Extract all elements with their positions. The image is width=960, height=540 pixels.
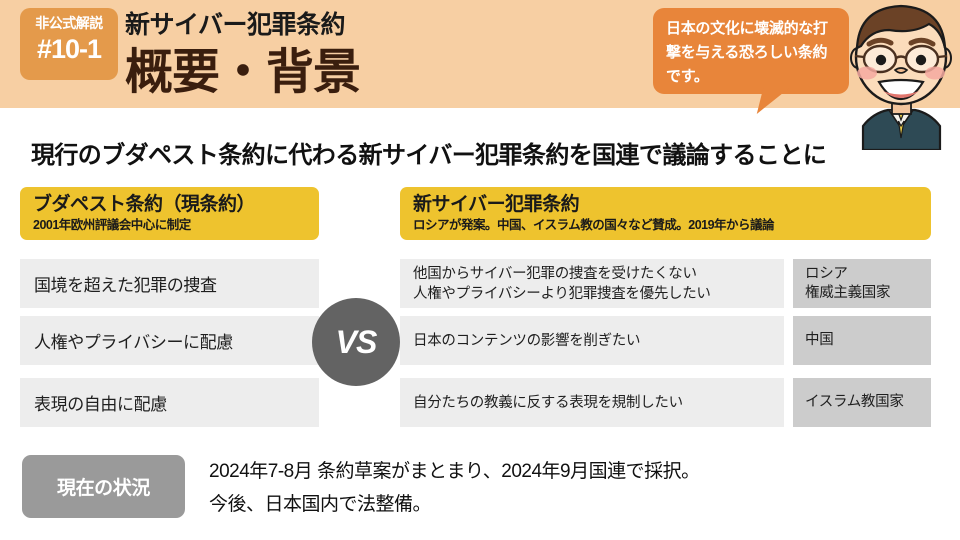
page-title: 概要・背景 xyxy=(125,32,360,102)
episode-badge-label: 非公式解説 xyxy=(20,15,118,32)
vs-badge: VS xyxy=(312,298,400,386)
speech-bubble-tail xyxy=(757,88,789,114)
country-tag: ロシア 権威主義国家 xyxy=(793,259,931,308)
row-text-line-1: 日本のコンテンツの影響を削ぎたい xyxy=(413,331,784,351)
column-header-right-title: 新サイバー犯罪条約 xyxy=(413,194,921,216)
column-header-new-cybercrime-treaty: 新サイバー犯罪条約 ロシアが発案。中国、イスラム教の国々など賛成。2019年から… xyxy=(400,187,931,240)
episode-badge: 非公式解説 #10-1 xyxy=(20,8,118,80)
slide-canvas: 非公式解説 #10-1 新サイバー犯罪条約 概要・背景 日本の文化に壊滅的な打撃… xyxy=(0,0,960,540)
status-text: 2024年7-8月 条約草案がまとまり、2024年9月国連で採択。 今後、日本国… xyxy=(209,455,949,521)
table-row: 他国からサイバー犯罪の捜査を受けたくない 人権やプライバシーより犯罪捜査を優先し… xyxy=(400,259,784,308)
column-header-right-subtitle: ロシアが発案。中国、イスラム教の国々など賛成。2019年から議論 xyxy=(413,217,921,233)
country-tag: 中国 xyxy=(793,316,931,365)
row-text-line-2: 人権やプライバシーより犯罪捜査を優先したい xyxy=(413,284,784,304)
column-header-left-title: ブダペスト条約（現条約） xyxy=(33,194,309,216)
presenter-character-illustration xyxy=(843,0,960,150)
status-line-2: 今後、日本国内で法整備。 xyxy=(209,488,949,521)
country-tag-line-1: イスラム教国家 xyxy=(805,393,931,412)
row-text-line-1: 他国からサイバー犯罪の捜査を受けたくない xyxy=(413,264,784,284)
country-tag-line-1: 中国 xyxy=(805,331,931,350)
table-row: 表現の自由に配慮 xyxy=(20,378,319,427)
table-row: 人権やプライバシーに配慮 xyxy=(20,316,319,365)
main-headline: 現行のブダペスト条約に代わる新サイバー犯罪条約を国連で議論することに xyxy=(31,135,826,170)
speech-bubble: 日本の文化に壊滅的な打撃を与える恐ろしい条約です。 xyxy=(653,8,849,94)
column-header-budapest-treaty: ブダペスト条約（現条約） 2001年欧州評議会中心に制定 xyxy=(20,187,319,240)
country-tag-line-1: ロシア xyxy=(805,265,931,284)
table-row: 日本のコンテンツの影響を削ぎたい xyxy=(400,316,784,365)
status-badge: 現在の状況 xyxy=(22,455,185,518)
row-text-line-1: 自分たちの教義に反する表現を規制したい xyxy=(413,393,784,413)
column-header-left-subtitle: 2001年欧州評議会中心に制定 xyxy=(33,217,309,233)
episode-badge-number: #10-1 xyxy=(20,33,118,65)
status-line-1: 2024年7-8月 条約草案がまとまり、2024年9月国連で採択。 xyxy=(209,455,949,488)
country-tag-line-2: 権威主義国家 xyxy=(805,284,931,303)
table-row: 国境を超えた犯罪の捜査 xyxy=(20,259,319,308)
table-row: 自分たちの教義に反する表現を規制したい xyxy=(400,378,784,427)
country-tag: イスラム教国家 xyxy=(793,378,931,427)
